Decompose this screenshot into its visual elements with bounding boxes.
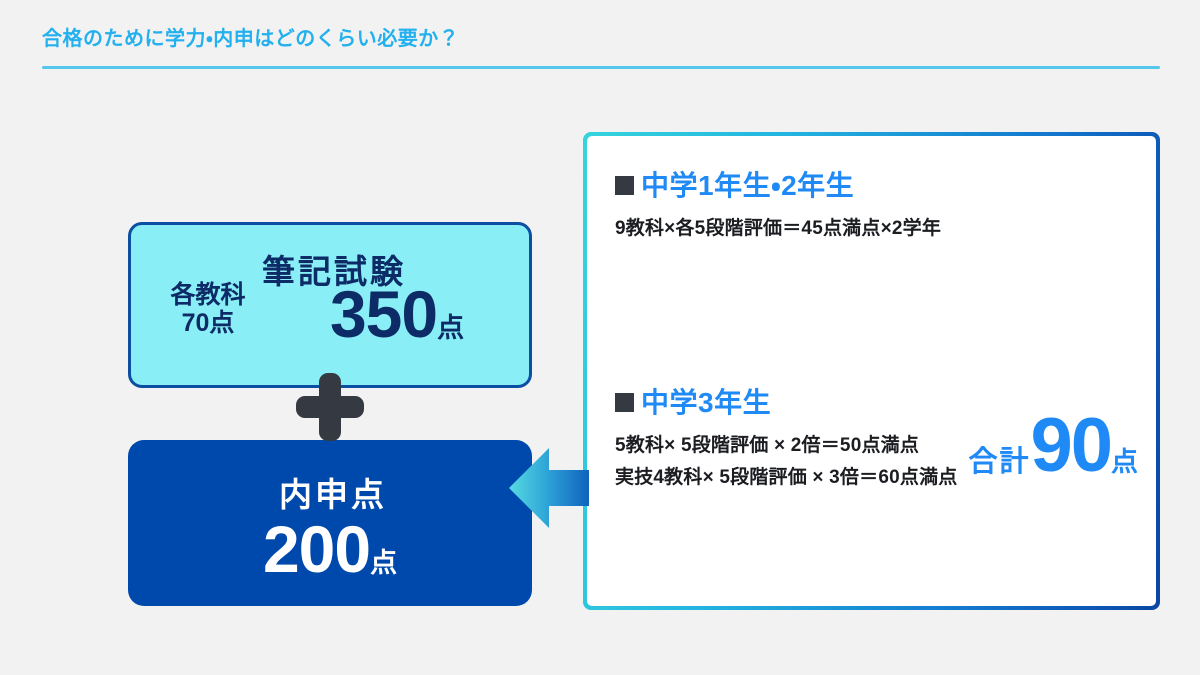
per-subject-note-line-1: 各教科 (149, 281, 267, 309)
grade-1-2-heading-text: 中学1年生・2年生 (641, 164, 854, 204)
report-card-title: 内申点 (128, 468, 532, 516)
plus-icon (288, 373, 372, 441)
report-card-total: 200点 (128, 516, 532, 582)
report-card-total-number: 200 (263, 512, 370, 586)
report-card-total-unit: 点 (370, 548, 397, 578)
page-title: 合格のために学力・内申はどのくらい必要か？ (42, 22, 459, 51)
written-exam-total-number: 350 (330, 277, 437, 351)
square-bullet-icon (615, 176, 634, 195)
arrow-left-icon (509, 440, 589, 536)
written-exam-total: 350点 (259, 281, 535, 347)
plus-icon-horizontal-bar (296, 396, 364, 418)
report-card-score-card: 内申点 200点 (128, 440, 532, 606)
grade-3-formula-line-2: 実技4教科× 5段階評価 × 3倍＝60点満点 (615, 462, 1138, 489)
grade-1-2-formula-line-1: 9教科×各5段階評価＝45点満点×2学年 (615, 213, 1138, 240)
written-exam-score-card: 筆記試験 各教科 70点 350点 (128, 222, 532, 388)
per-subject-note-line-2: 70点 (149, 309, 267, 337)
grade-3-heading-text: 中学3年生 (641, 381, 771, 421)
written-exam-total-unit: 点 (437, 313, 464, 343)
grade-1-2-heading: 中学1年生・2年生 (615, 164, 1138, 204)
per-subject-note: 各教科 70点 (149, 281, 267, 337)
grade-3-heading: 中学3年生 (615, 381, 1138, 421)
grade-breakdown-panel: 中学1年生・2年生 9教科×各5段階評価＝45点満点×2学年 合計90点 中学3… (583, 132, 1160, 610)
title-divider-rule (42, 66, 1160, 69)
grade-3-formula-line-1: 5教科× 5段階評価 × 2倍＝50点満点 (615, 430, 1138, 457)
square-bullet-icon (615, 393, 634, 412)
grade-1-2-section: 中学1年生・2年生 9教科×各5段階評価＝45点満点×2学年 (615, 164, 1138, 240)
grade-breakdown-panel-content: 中学1年生・2年生 9教科×各5段階評価＝45点満点×2学年 合計90点 中学3… (587, 136, 1156, 606)
written-exam-card-content: 筆記試験 各教科 70点 350点 (131, 225, 529, 385)
slide-header: 合格のために学力・内申はどのくらい必要か？ (0, 0, 1200, 70)
arrow-left-icon-svg (509, 440, 589, 536)
grade-3-section: 中学3年生 5教科× 5段階評価 × 2倍＝50点満点 実技4教科× 5段階評価… (615, 381, 1138, 489)
